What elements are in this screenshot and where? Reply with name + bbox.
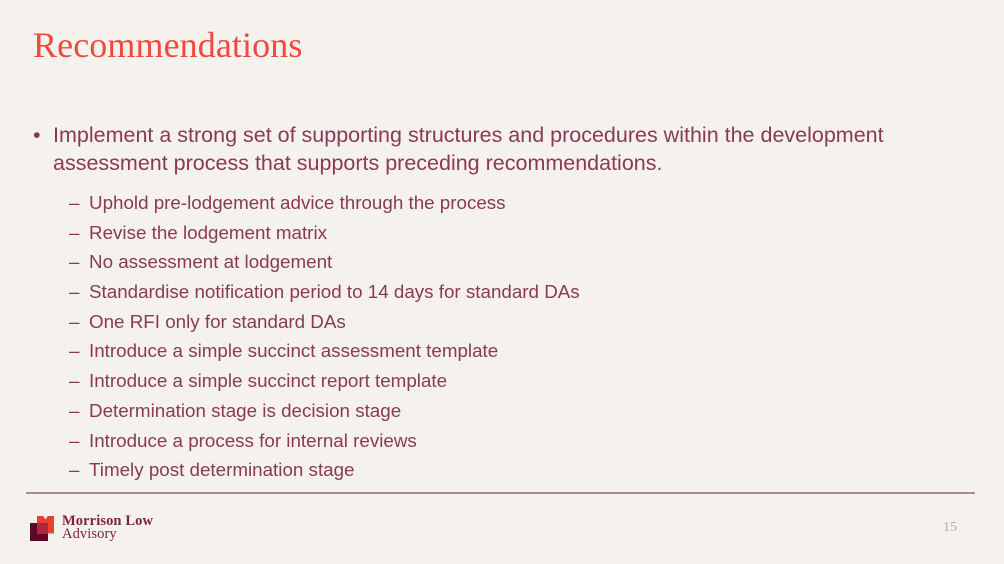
bullet-level1: • Implement a strong set of supporting s… xyxy=(0,122,1004,177)
list-item-label: No assessment at lodgement xyxy=(89,251,332,272)
page-number: 15 xyxy=(930,520,970,536)
footer-divider xyxy=(26,492,975,494)
bullet-marker-dash: – xyxy=(69,455,79,485)
list-item: – Timely post determination stage xyxy=(0,455,1004,485)
list-item-label: Introduce a process for internal reviews xyxy=(89,430,417,451)
bullet-marker-dash: – xyxy=(69,277,79,307)
list-item-label: Timely post determination stage xyxy=(89,459,355,480)
list-item: – No assessment at lodgement xyxy=(0,247,1004,277)
morrison-low-squares-logo-icon xyxy=(30,516,54,541)
logo-square-mid xyxy=(37,523,48,534)
list-item-label: Introduce a simple succinct report templ… xyxy=(89,370,447,391)
list-item: – One RFI only for standard DAs xyxy=(0,307,1004,337)
bullet-marker-dash: – xyxy=(69,366,79,396)
bullet-marker-dot: • xyxy=(33,122,47,150)
brand-logo-text: Morrison Low Advisory xyxy=(62,515,153,542)
slide: Recommendations • Implement a strong set… xyxy=(0,0,1004,564)
bullet-marker-dash: – xyxy=(69,307,79,337)
list-item: – Introduce a simple succinct report tem… xyxy=(0,366,1004,396)
list-item: – Introduce a simple succinct assessment… xyxy=(0,336,1004,366)
slide-body: • Implement a strong set of supporting s… xyxy=(0,122,1004,485)
list-item: – Revise the lodgement matrix xyxy=(0,218,1004,248)
brand-tagline: Advisory xyxy=(62,528,153,542)
list-item-label: Determination stage is decision stage xyxy=(89,400,401,421)
bullet-marker-dash: – xyxy=(69,247,79,277)
bullet-level1-text: Implement a strong set of supporting str… xyxy=(53,123,884,175)
list-item-label: Introduce a simple succinct assessment t… xyxy=(89,340,498,361)
bullet-marker-dash: – xyxy=(69,426,79,456)
bullet-marker-dash: – xyxy=(69,336,79,366)
sub-bullet-list: – Uphold pre-lodgement advice through th… xyxy=(0,188,1004,485)
bullet-marker-dash: – xyxy=(69,188,79,218)
page-title: Recommendations xyxy=(33,23,302,67)
list-item: – Standardise notification period to 14 … xyxy=(0,277,1004,307)
bullet-marker-dash: – xyxy=(69,218,79,248)
bullet-marker-dash: – xyxy=(69,396,79,426)
list-item-label: Revise the lodgement matrix xyxy=(89,222,327,243)
brand-logo: Morrison Low Advisory xyxy=(30,512,153,544)
list-item: – Uphold pre-lodgement advice through th… xyxy=(0,188,1004,218)
list-item-label: Uphold pre-lodgement advice through the … xyxy=(89,192,506,213)
list-item-label: Standardise notification period to 14 da… xyxy=(89,281,580,302)
list-item: – Introduce a process for internal revie… xyxy=(0,426,1004,456)
list-item: – Determination stage is decision stage xyxy=(0,396,1004,426)
list-item-label: One RFI only for standard DAs xyxy=(89,311,346,332)
